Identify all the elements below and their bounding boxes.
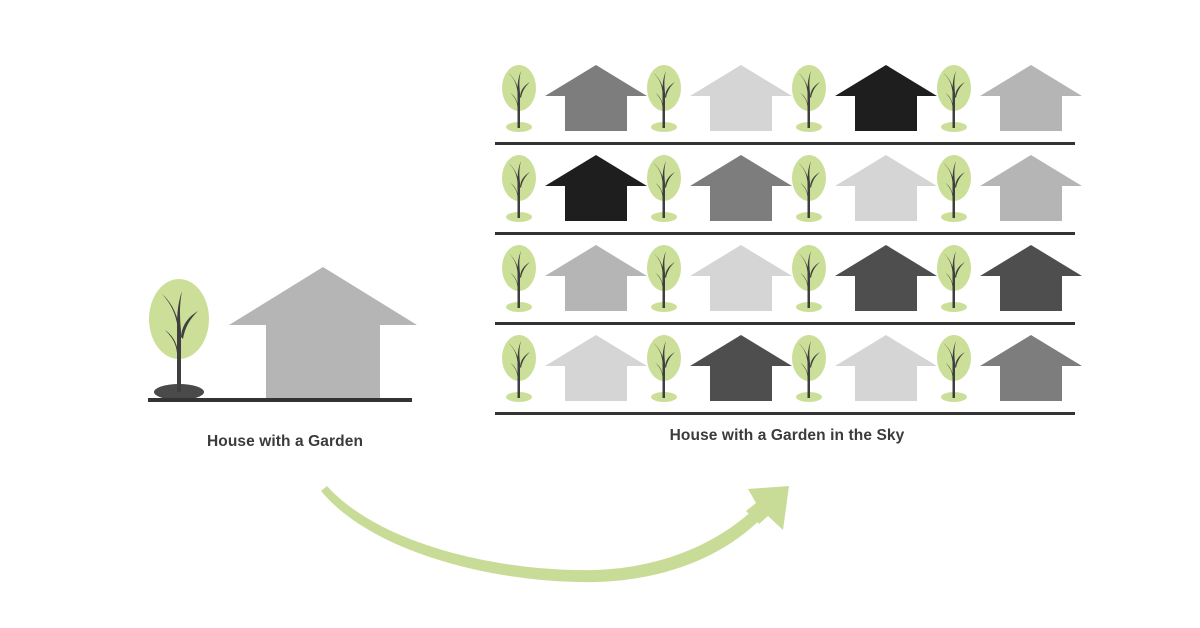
house-icon bbox=[544, 63, 648, 133]
tree-icon bbox=[790, 151, 830, 223]
tree-icon bbox=[790, 331, 830, 403]
curved-arrow-icon bbox=[305, 478, 805, 598]
house-icon bbox=[689, 333, 793, 403]
ground-line bbox=[148, 398, 412, 402]
tree-icon bbox=[790, 61, 830, 133]
sky-row bbox=[492, 145, 1078, 235]
house-icon bbox=[689, 243, 793, 313]
tree-icon bbox=[645, 331, 685, 403]
house-icon bbox=[544, 153, 648, 223]
sky-row bbox=[492, 325, 1078, 415]
right-panel-caption: House with a Garden in the Sky bbox=[462, 427, 1112, 445]
tree-icon bbox=[500, 331, 540, 403]
tree-icon bbox=[500, 241, 540, 313]
house-icon bbox=[228, 263, 418, 401]
house-icon bbox=[834, 153, 938, 223]
tree-icon bbox=[500, 61, 540, 133]
house-with-garden-in-the-sky-panel: House with a Garden in the Sky bbox=[492, 55, 1082, 455]
tree-icon bbox=[935, 151, 975, 223]
tree-icon bbox=[645, 241, 685, 313]
tree-icon bbox=[935, 241, 975, 313]
left-panel-caption: House with a Garden bbox=[140, 433, 430, 451]
tree-icon bbox=[146, 275, 218, 401]
tree-icon bbox=[645, 151, 685, 223]
house-icon bbox=[979, 63, 1083, 133]
diagram-canvas: House with a Garden bbox=[0, 0, 1200, 628]
tree-icon bbox=[790, 241, 830, 313]
house-icon bbox=[544, 333, 648, 403]
tree-icon bbox=[645, 61, 685, 133]
tree-icon bbox=[500, 151, 540, 223]
house-icon bbox=[979, 153, 1083, 223]
house-with-garden-panel: House with a Garden bbox=[140, 255, 430, 465]
house-icon bbox=[979, 243, 1083, 313]
sky-row bbox=[492, 235, 1078, 325]
house-icon bbox=[834, 243, 938, 313]
tree-icon bbox=[935, 61, 975, 133]
house-icon bbox=[834, 333, 938, 403]
house-icon bbox=[544, 243, 648, 313]
tree-icon bbox=[935, 331, 975, 403]
sky-row bbox=[492, 55, 1078, 145]
house-icon bbox=[979, 333, 1083, 403]
sky-row-ground-line bbox=[495, 412, 1075, 416]
house-icon bbox=[834, 63, 938, 133]
house-icon bbox=[689, 63, 793, 133]
house-icon bbox=[689, 153, 793, 223]
